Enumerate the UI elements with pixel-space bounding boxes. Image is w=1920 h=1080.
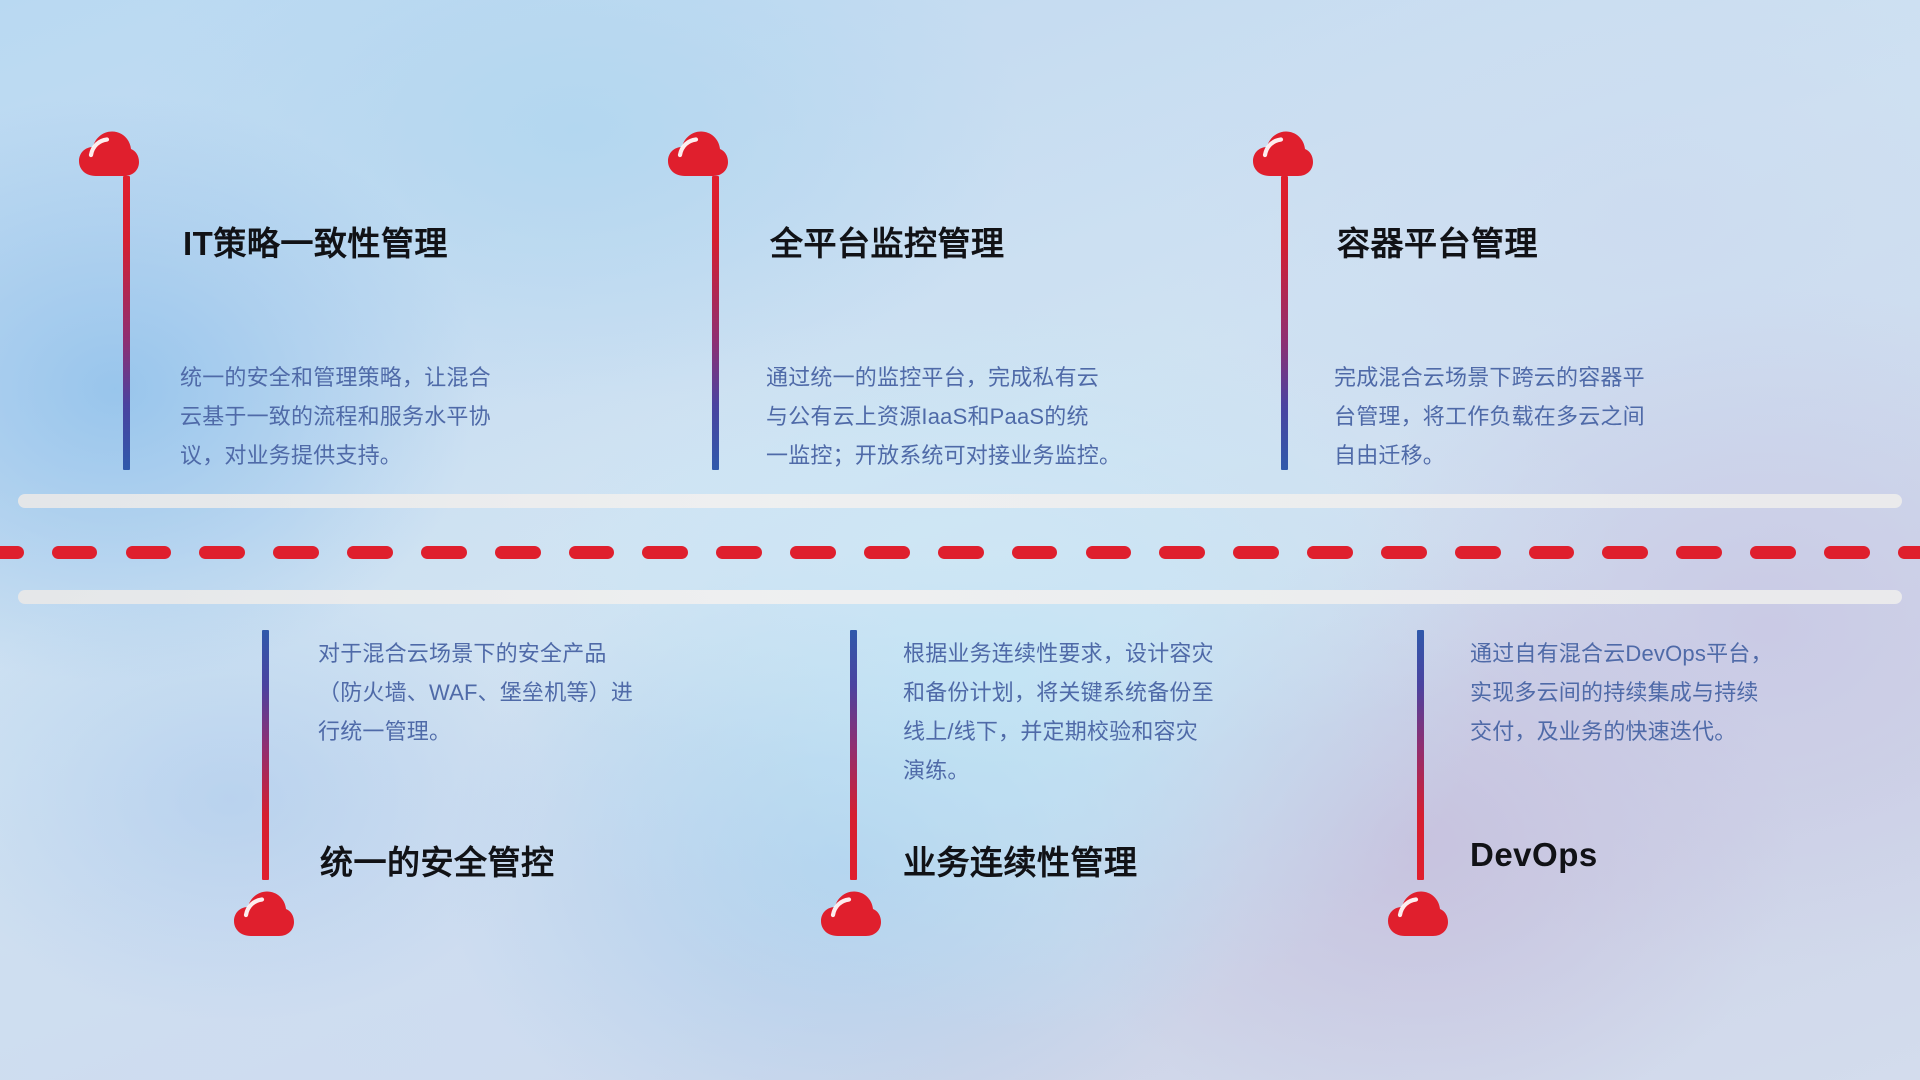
column-body-it-policy-consistency: 统一的安全和管理策略，让混合 云基于一致的流程和服务水平协 议，对业务提供支持。 [180, 358, 491, 475]
body-line: 和备份计划，将关键系统备份至 [903, 673, 1214, 712]
divider-dash [1086, 546, 1132, 559]
column-body-full-platform-monitoring: 通过统一的监控平台，完成私有云 与公有云上资源IaaS和PaaS的统 一监控；开… [766, 358, 1121, 475]
body-line: 台管理，将工作负载在多云之间 [1334, 397, 1645, 436]
body-line: 行统一管理。 [318, 712, 633, 751]
divider-band-bottom [18, 590, 1902, 604]
divider-dash [1455, 546, 1501, 559]
divider-dash [52, 546, 98, 559]
divider-dash [716, 546, 762, 559]
divider-band-top [18, 494, 1902, 508]
divider-dash [642, 546, 688, 559]
infographic-stage: IT策略一致性管理 统一的安全和管理策略，让混合 云基于一致的流程和服务水平协 … [0, 0, 1920, 1080]
body-line: 完成混合云场景下跨云的容器平 [1334, 358, 1645, 397]
divider-dash [1676, 546, 1722, 559]
cloud-icon [667, 130, 729, 178]
cloud-icon [1252, 130, 1314, 178]
stem-unified-security [262, 630, 269, 880]
stem-full-platform-monitoring [712, 176, 719, 470]
column-title-full-platform-monitoring: 全平台监控管理 [770, 217, 1005, 265]
cloud-icon [820, 890, 882, 938]
divider-dash [495, 546, 541, 559]
stem-devops [1417, 630, 1424, 880]
divider-dash [864, 546, 910, 559]
body-line: 根据业务连续性要求，设计容灾 [903, 634, 1214, 673]
divider-dash [1602, 546, 1648, 559]
column-title-business-continuity: 业务连续性管理 [903, 836, 1138, 884]
divider-dash [790, 546, 836, 559]
body-line: 统一的安全和管理策略，让混合 [180, 358, 491, 397]
column-body-container-platform: 完成混合云场景下跨云的容器平 台管理，将工作负载在多云之间 自由迁移。 [1334, 358, 1645, 475]
divider-dash [0, 546, 24, 559]
body-line: 实现多云间的持续集成与持续 [1470, 673, 1773, 712]
divider-dash [273, 546, 319, 559]
body-line: 交付，及业务的快速迭代。 [1470, 712, 1773, 751]
divider-dash [199, 546, 245, 559]
body-line: 对于混合云场景下的安全产品 [318, 634, 633, 673]
body-line: 一监控；开放系统可对接业务监控。 [766, 436, 1121, 475]
column-title-unified-security: 统一的安全管控 [320, 836, 555, 884]
divider-dash [421, 546, 467, 559]
divider-dash [1012, 546, 1058, 559]
column-body-unified-security: 对于混合云场景下的安全产品 （防火墙、WAF、堡垒机等）进 行统一管理。 [318, 634, 633, 751]
divider-dash [1898, 546, 1920, 559]
stem-it-policy-consistency [123, 176, 130, 470]
divider-dash [1529, 546, 1575, 559]
body-line: （防火墙、WAF、堡垒机等）进 [318, 673, 633, 712]
divider-dash [126, 546, 172, 559]
divider-dash [1381, 546, 1427, 559]
stem-business-continuity [850, 630, 857, 880]
body-line: 与公有云上资源IaaS和PaaS的统 [766, 397, 1121, 436]
body-line: 通过统一的监控平台，完成私有云 [766, 358, 1121, 397]
body-line: 演练。 [903, 751, 1214, 790]
divider-dash [1159, 546, 1205, 559]
divider-dash [938, 546, 984, 559]
column-title-devops: DevOps [1470, 836, 1598, 874]
column-body-business-continuity: 根据业务连续性要求，设计容灾 和备份计划，将关键系统备份至 线上/线下，并定期校… [903, 634, 1214, 790]
column-title-container-platform: 容器平台管理 [1337, 217, 1538, 265]
cloud-icon [233, 890, 295, 938]
body-line: 线上/线下，并定期校验和容灾 [903, 712, 1214, 751]
divider-dash [569, 546, 615, 559]
body-line: 议，对业务提供支持。 [180, 436, 491, 475]
body-line: 通过自有混合云DevOps平台， [1470, 634, 1773, 673]
stem-container-platform [1281, 176, 1288, 470]
red-dashed-divider [0, 546, 1920, 559]
divider-dash [1750, 546, 1796, 559]
body-line: 云基于一致的流程和服务水平协 [180, 397, 491, 436]
body-line: 自由迁移。 [1334, 436, 1645, 475]
divider-dash [1824, 546, 1870, 559]
divider-dash [1233, 546, 1279, 559]
column-body-devops: 通过自有混合云DevOps平台， 实现多云间的持续集成与持续 交付，及业务的快速… [1470, 634, 1773, 751]
divider-dash [1307, 546, 1353, 559]
column-title-it-policy-consistency: IT策略一致性管理 [183, 217, 448, 265]
cloud-icon [1387, 890, 1449, 938]
divider-dash [347, 546, 393, 559]
cloud-icon [78, 130, 140, 178]
